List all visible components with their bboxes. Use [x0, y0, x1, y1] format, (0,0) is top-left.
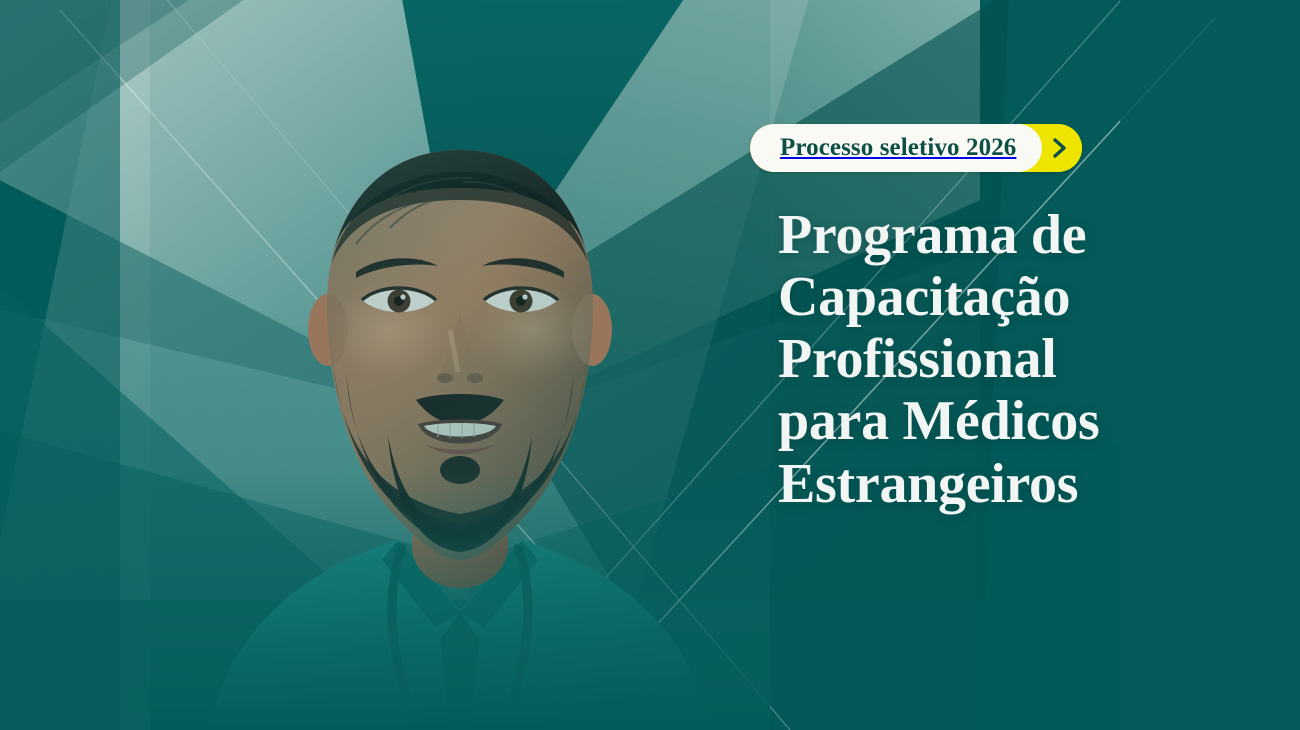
promo-banner: Processo seletivo 2026 Programa de Capac… — [0, 0, 1300, 730]
headline-line-3: Profissional — [778, 328, 1278, 390]
headline-line-2: Capacitação — [778, 266, 1278, 328]
processo-seletivo-cta[interactable]: Processo seletivo 2026 — [750, 124, 1082, 172]
cta-label: Processo seletivo 2026 — [750, 124, 1042, 172]
headline-line-5: Estrangeiros — [778, 453, 1278, 515]
doctor-portrait — [150, 0, 770, 730]
banner-content: Processo seletivo 2026 Programa de Capac… — [750, 0, 1300, 730]
page-title: Programa de Capacitação Profissional par… — [778, 204, 1278, 515]
doctor-portrait-svg — [150, 0, 770, 730]
headline-line-4: para Médicos — [778, 390, 1278, 452]
headline-line-1: Programa de — [778, 204, 1278, 266]
